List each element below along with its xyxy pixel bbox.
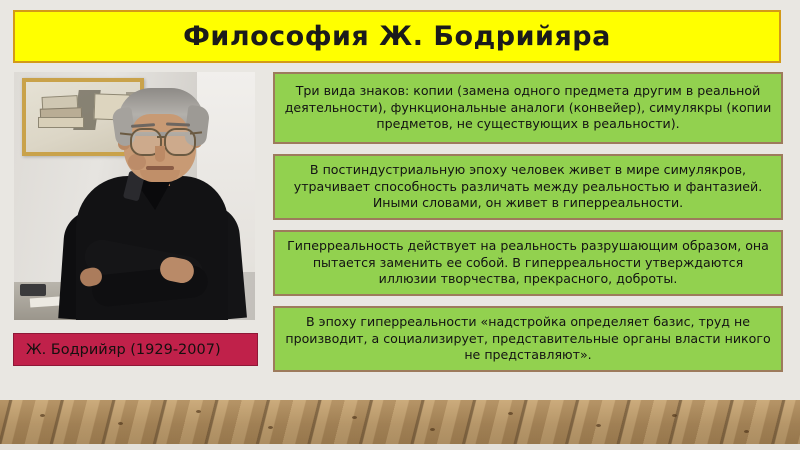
floor-knot	[672, 414, 677, 417]
content-box-4-text: В эпоху гиперреальности «надстройка опре…	[283, 314, 773, 365]
presentation-slide: Философия Ж. Бодрийяра	[0, 0, 800, 450]
wooden-floor	[0, 400, 800, 444]
photo-caption-box: Ж. Бодрийяр (1929-2007)	[13, 333, 258, 366]
photo-glasses-bridge	[157, 136, 166, 138]
floor-knot	[268, 426, 273, 429]
content-box-4: В эпоху гиперреальности «надстройка опре…	[273, 306, 783, 372]
content-box-1: Три вида знаков: копии (замена одного пр…	[273, 72, 783, 144]
portrait-photo	[14, 72, 255, 320]
floor-knot	[118, 422, 123, 425]
content-box-2-text: В постиндустриальную эпоху человек живет…	[283, 162, 773, 213]
floor-knot	[596, 424, 601, 427]
picture-book-c	[38, 117, 84, 128]
photo-cheek-shadow	[128, 154, 146, 170]
content-box-3: Гиперреальность действует на реальность …	[273, 230, 783, 296]
content-box-2: В постиндустриальную эпоху человек живет…	[273, 154, 783, 220]
floor-knot	[40, 414, 45, 417]
photo-caption-text: Ж. Бодрийяр (1929-2007)	[26, 342, 221, 358]
content-box-3-text: Гиперреальность действует на реальность …	[283, 238, 773, 289]
photo-desk-object	[20, 284, 46, 296]
page-title: Философия Ж. Бодрийяра	[183, 23, 611, 50]
floor-knot	[352, 416, 357, 419]
floor-knot	[430, 428, 435, 431]
floor-knot	[508, 412, 513, 415]
floor-knot	[744, 430, 749, 433]
photo-nose	[155, 146, 165, 162]
photo-chin	[140, 170, 180, 182]
floor-knot	[196, 410, 201, 413]
slide-title-banner: Философия Ж. Бодрийяра	[13, 10, 781, 63]
content-box-1-text: Три вида знаков: копии (замена одного пр…	[283, 83, 773, 134]
floor-bottom-edge	[0, 444, 800, 450]
